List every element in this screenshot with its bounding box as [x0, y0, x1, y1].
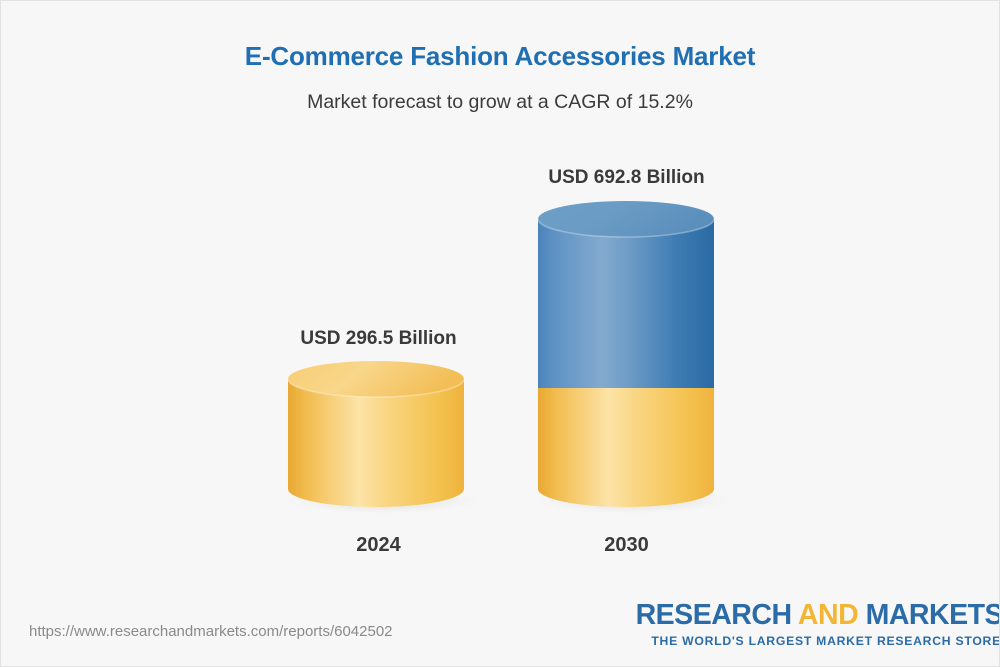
source-url-link[interactable]: https://www.researchandmarkets.com/repor…	[29, 623, 393, 640]
logo-word-and: AND	[798, 599, 858, 631]
axis-label-2030: 2030	[524, 534, 729, 557]
data-label-2030: USD 692.8 Billion	[524, 167, 729, 189]
chart-plot-area: USD 296.5 Billion USD 692.8 Billion 2024…	[1, 1, 1000, 601]
logo-wordmark: RESEARCH AND MARKETS	[636, 601, 1000, 630]
infographic-canvas: E-Commerce Fashion Accessories Market Ma…	[0, 0, 1000, 667]
logo-tagline: THE WORLD'S LARGEST MARKET RESEARCH STOR…	[636, 635, 1000, 647]
logo-word-research: RESEARCH	[636, 599, 792, 631]
research-and-markets-logo[interactable]: RESEARCH AND MARKETS THE WORLD'S LARGEST…	[636, 601, 1000, 647]
bar-body-2024	[288, 379, 464, 507]
axis-label-2024: 2024	[276, 534, 481, 557]
bar-cylinder-2030	[524, 196, 729, 519]
data-label-2024: USD 296.5 Billion	[276, 328, 481, 350]
bar-body-2030	[538, 219, 714, 388]
logo-word-markets: MARKETS	[866, 599, 1000, 631]
bar-cylinder-2024	[276, 359, 481, 519]
bar-base-segment-2030	[538, 386, 714, 507]
